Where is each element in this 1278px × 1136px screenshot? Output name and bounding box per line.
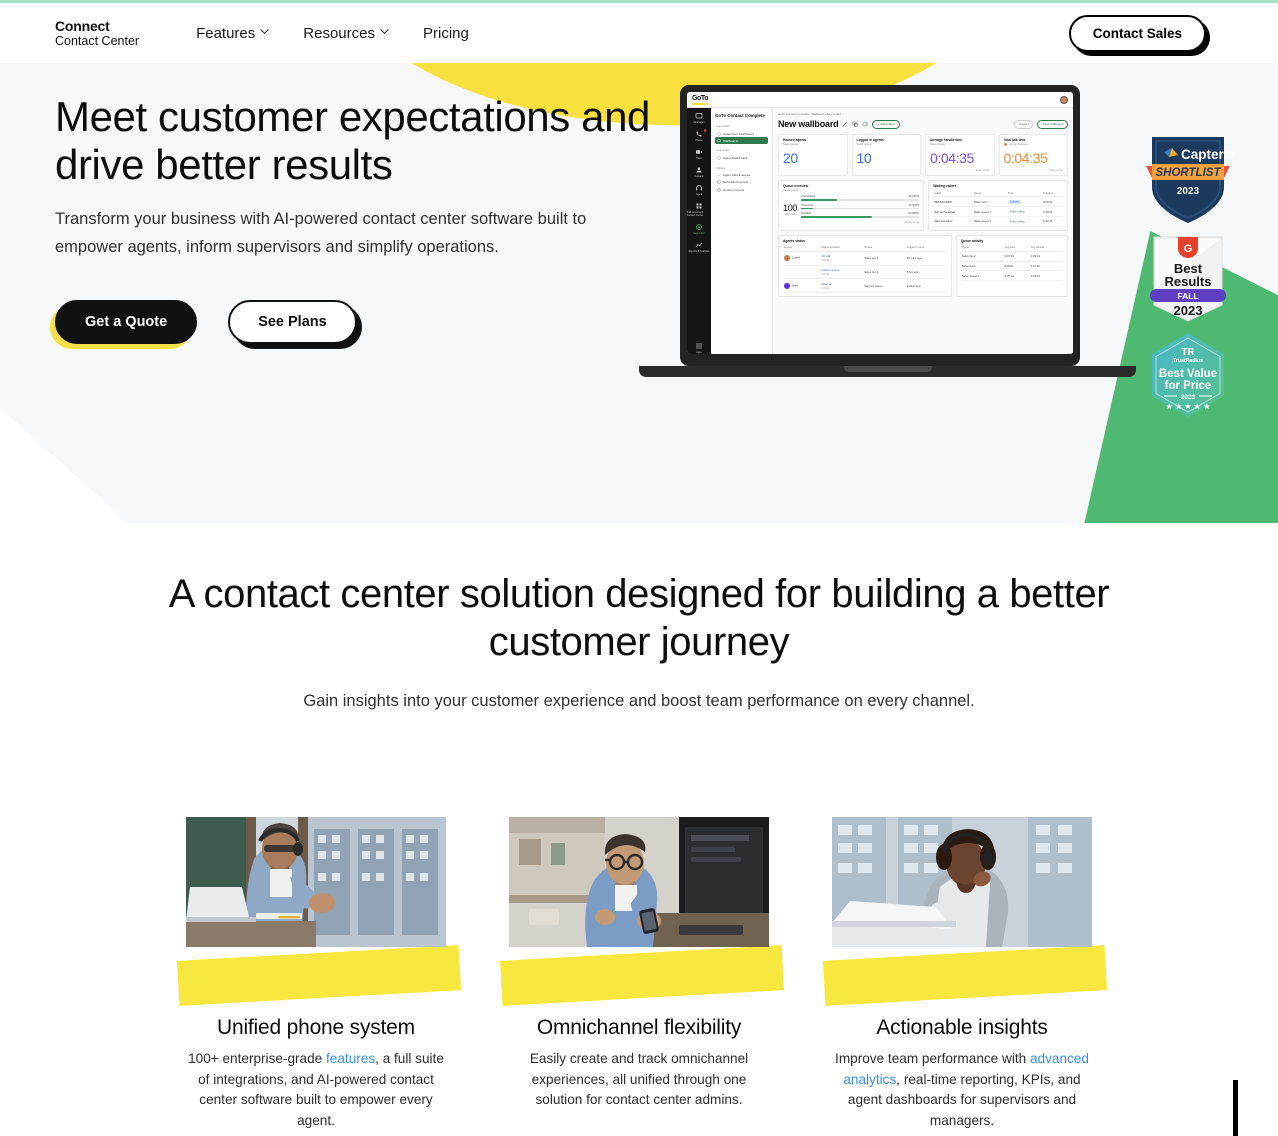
- kpi-value: 0:04:35: [1004, 150, 1064, 166]
- rail-item-meet[interactable]: Meet: [687, 148, 711, 160]
- card-title: Unified phone system: [186, 1016, 446, 1040]
- agent-name: Adex: [792, 283, 798, 287]
- status-badge: Callback: [1008, 200, 1022, 204]
- queue-bar-fill: [801, 216, 872, 218]
- cell-status: Wrap up0:00:16: [820, 279, 863, 293]
- cell-queue: Sales queue 1: [973, 216, 1007, 226]
- card-body-pre: Improve team performance with: [835, 1051, 1030, 1066]
- kpi-subtitle: Sales queue: [857, 143, 917, 146]
- queue-total: 100 Total calls: [783, 203, 797, 216]
- dashboard-icon: [717, 156, 721, 160]
- table-row: Marc Hamilton Sales queue 1 Active calli…: [933, 216, 1063, 226]
- feature-card-omnichannel-flexibility: Omnichannel flexibility Easily create an…: [509, 785, 769, 1132]
- notification-badge-icon: [704, 129, 707, 132]
- report-icon: [717, 188, 721, 192]
- kpi-title: Total talk time: [1004, 138, 1064, 142]
- contacts-icon: [695, 166, 703, 174]
- yellow-band-decoration: [500, 945, 784, 1006]
- cell-caller: 888-890-8008: [933, 197, 972, 207]
- nav-supervisor-dashboard-label: Supervisor Dashboard: [723, 132, 754, 136]
- grid-icon: [695, 202, 703, 210]
- apps-icon: [695, 342, 703, 350]
- kpi-footer: Today so far: [930, 169, 990, 172]
- avatar: [784, 283, 790, 289]
- waiting-callers-panel: Waiting callers Caller Queue Type Durati…: [928, 180, 1068, 230]
- queue-total-label: Total calls: [783, 213, 797, 216]
- page-title: New wallboard: [778, 119, 838, 129]
- kpi-footer: Today so far: [1004, 169, 1064, 172]
- queue-bar-fill: [801, 199, 836, 201]
- main-navigation: Features Resources Pricing: [196, 25, 469, 42]
- rail-item-phone-label: Phone: [696, 139, 703, 142]
- card-media: [186, 785, 446, 1000]
- cell-avg-handle: 0:18:01: [1030, 271, 1063, 281]
- chevron-down-icon: [260, 27, 269, 36]
- cell-status: On call0:00:43: [820, 251, 863, 265]
- get-a-quote-button[interactable]: Get a Quote: [55, 300, 197, 344]
- status-link[interactable]: Follow up chat: [821, 268, 839, 272]
- table-row: Samantha Edgar Sales queue 1 Active call…: [933, 207, 1063, 217]
- queue-activity-panel: Queue activity Queue Avg wait Avg handle: [956, 235, 1068, 297]
- nav-wallboards-label: Wallboards: [723, 139, 738, 143]
- kpi-subtitle: Sales queue: [783, 143, 843, 146]
- rail-item-apps-label: Apps: [696, 351, 701, 354]
- cell-avg-wait: 0:25:01: [1004, 271, 1030, 281]
- add-widget-button[interactable]: + Add widget: [872, 120, 899, 129]
- agent-name: Lowell: [792, 256, 800, 260]
- analytics-icon: [695, 241, 703, 249]
- panel-title: Waiting callers: [933, 184, 1063, 188]
- video-icon: [695, 148, 703, 156]
- svg-text:Capterra: Capterra: [1181, 147, 1234, 162]
- cell-queue: Sales tier 1: [863, 265, 905, 279]
- laptop-body: GoTo Messages: [680, 85, 1080, 366]
- queue-bar-track: [801, 199, 919, 201]
- cell-duration: 0:00:01: [1042, 197, 1063, 207]
- cell-avg-handle: 0:06:01: [1030, 251, 1063, 261]
- status-link[interactable]: Wrap up: [821, 282, 832, 286]
- queue-bar-value: 60 (60%): [908, 212, 919, 215]
- queue-overview-panel: Queue overview Sales queue 100 Total cal…: [778, 180, 924, 230]
- queue-overview-footer: Today so far: [801, 221, 919, 224]
- contact-center-dashboard: GoTo Messages: [687, 92, 1073, 354]
- hero-subheading: Transform your business with AI-powered …: [55, 205, 635, 262]
- panel-title: Queue activity: [961, 239, 1063, 243]
- duplicate-icon[interactable]: [852, 121, 858, 127]
- value-proposition-section: A contact center solution designed for b…: [0, 570, 1278, 711]
- table-row: 888-890-8008 Sales tier2 Callback 0:00:0…: [933, 197, 1063, 207]
- rail-item-agent-label: Agent: [696, 193, 702, 196]
- header-actions: Contact Sales: [1069, 15, 1206, 52]
- svg-text:2023: 2023: [1181, 394, 1196, 401]
- card-body-pre: 100+ enterprise-grade: [188, 1051, 326, 1066]
- kpi-title: Logged in agents: [857, 138, 917, 142]
- svg-text:Results: Results: [1165, 274, 1212, 289]
- cell-queue: Sales tier 2: [961, 251, 1004, 261]
- queue-bar-track: [801, 208, 919, 210]
- nav-scheduled-reports[interactable]: Scheduled reports: [715, 179, 768, 186]
- cell-avg-wait: 0:15:01: [1004, 251, 1030, 261]
- cell-time: 2 days ago: [906, 279, 947, 293]
- capterra-shortlist-badge: Capterra SHORTLIST 2023: [1140, 131, 1236, 227]
- svg-text:FALL: FALL: [1177, 291, 1198, 301]
- cell-status: Follow up chat0:00:01: [820, 265, 863, 279]
- kpi-card-logged-in-agents: Logged in agents Sales queue 10: [852, 134, 922, 176]
- dashboard-icon: [717, 132, 721, 136]
- table-row: Sales tier 2 0:15:01 0:06:01: [961, 251, 1063, 261]
- save-wallboard-button[interactable]: Save wallboard: [1037, 120, 1068, 129]
- goto-logo: GoTo: [692, 95, 708, 105]
- site-header: Connect Contact Center Features Resource…: [0, 3, 1278, 63]
- rail-item-supervisor-label: Supervisor: [693, 232, 704, 235]
- man-at-desk-with-phone-photo: [509, 817, 769, 947]
- nav-agent-effectiveness-label: Agent effectiveness: [723, 173, 750, 177]
- agents-status-panel: Agents status Agents Status/Location Que…: [778, 235, 952, 297]
- queue-activity-table: Queue Avg wait Avg handle Sales tier 2 0…: [961, 245, 1063, 281]
- cell-avg-wait: 0:06:11: [1004, 261, 1030, 271]
- table-row: Sales queue 1 0:25:01 0:18:01: [961, 271, 1063, 281]
- brand-logo-primary: Connect: [55, 18, 139, 34]
- nav-item-pricing[interactable]: Pricing: [423, 25, 469, 42]
- status-badge: Active calling: [1008, 220, 1027, 224]
- kpi-subtitle: Sales queue: [930, 143, 990, 146]
- section-subheading: Gain insights into your customer experie…: [0, 692, 1278, 711]
- table-row: Adex Wrap up0:00:16 Support queue 2 days…: [783, 279, 947, 293]
- cell-queue: Support queue: [863, 279, 905, 293]
- laptop-screen: GoTo Messages: [687, 92, 1073, 354]
- share-icon[interactable]: [862, 121, 868, 127]
- nav-wallboards[interactable]: Wallboards: [715, 137, 768, 144]
- nav-item-resources[interactable]: Resources: [303, 25, 389, 42]
- agents-status-table: Agents Status/Location Queue Logged in t…: [783, 245, 947, 293]
- rail-item-agent[interactable]: Agent: [687, 184, 711, 196]
- rail-item-contacts[interactable]: Contacts: [687, 166, 711, 178]
- rail-item-phone[interactable]: Phone: [687, 130, 711, 142]
- svg-text:2023: 2023: [1174, 303, 1203, 318]
- award-badges: Capterra SHORTLIST 2023 G Best Results F…: [1140, 131, 1236, 425]
- edit-icon[interactable]: [842, 121, 848, 127]
- svg-text:G: G: [1184, 243, 1193, 255]
- panel-title: Agents status: [783, 239, 947, 243]
- chat-icon: [695, 112, 703, 120]
- svg-text:Best Value: Best Value: [1159, 368, 1217, 380]
- rail-item-reports-analytics[interactable]: Reports & Analytics: [687, 241, 711, 253]
- avatar[interactable]: [1060, 96, 1068, 104]
- cell-type: Callback: [1007, 197, 1042, 207]
- status-duration: 0:00:16: [821, 287, 829, 290]
- svg-text:2023: 2023: [1177, 186, 1200, 197]
- features-link[interactable]: features: [326, 1051, 375, 1066]
- cell-duration: 0:10:01: [1042, 207, 1063, 217]
- kpi-value: 10: [857, 150, 917, 166]
- queue-bar-label: Timed out: [801, 204, 813, 207]
- nav-agent-dashboard[interactable]: Agent Dashboard: [715, 154, 768, 161]
- queue-bar-row: Abandoned 30 (30%): [801, 195, 919, 198]
- status-link[interactable]: On call: [821, 254, 830, 258]
- yellow-band-decoration: [823, 945, 1107, 1006]
- queue-bar-label: Handled: [801, 212, 811, 215]
- queue-bar-label: Abandoned: [801, 195, 815, 198]
- rail-item-meet-label: Meet: [696, 157, 701, 160]
- avatar: [1004, 143, 1007, 146]
- card-body: Improve team performance with advanced a…: [832, 1049, 1092, 1132]
- svg-text:TR: TR: [1181, 347, 1195, 358]
- kpi-card-paused-agents: Paused agents Sales queue 20: [778, 134, 848, 176]
- nav-agent-effectiveness[interactable]: Agent effectiveness: [715, 172, 768, 179]
- cell-type: Active calling: [1007, 207, 1042, 217]
- card-body: 100+ enterprise-grade features, a full s…: [186, 1049, 446, 1132]
- rail-item-call-center[interactable]: Call center and Contact Center: [687, 202, 711, 217]
- rail-item-messages[interactable]: Messages: [687, 112, 711, 124]
- landing-page: Connect Contact Center Features Resource…: [0, 0, 1278, 1136]
- hero-heading: Meet customer expectations and drive bet…: [55, 93, 675, 189]
- panel-subtitle: Sales queue: [783, 189, 919, 192]
- cell-queue: Sales queue 1: [973, 207, 1007, 217]
- feature-cards: Unified phone system 100+ enterprise-gra…: [0, 785, 1278, 1132]
- section-heading: A contact center solution designed for b…: [139, 570, 1139, 666]
- kpi-subtitle-row: Lincoln Bowman: [1004, 143, 1064, 146]
- status-duration: 0:00:01: [821, 273, 829, 276]
- queue-bar-row: Handled 60 (60%): [801, 212, 919, 215]
- cell-avg-handle: 0:11:01: [1030, 261, 1063, 271]
- dashboard-main-panel: GoTo Contact Complete › Wallboard › New …: [773, 108, 1073, 354]
- mid-panel-row: Queue overview Sales queue 100 Total cal…: [778, 180, 1068, 230]
- calendar-icon: [717, 180, 721, 184]
- dashboard-body: Messages Phone Meet: [687, 108, 1073, 354]
- cell-queue: Sales tier2: [973, 197, 1007, 207]
- see-plans-button[interactable]: See Plans: [228, 300, 357, 344]
- status-duration: 0:00:43: [821, 259, 829, 262]
- table-row: Lowell On call0:00:43 Sales tier 2 30 mi…: [783, 251, 947, 265]
- trustradius-best-value-badge: TR TrustRadius Best Value for Price 2023…: [1140, 331, 1236, 419]
- nav-supervisor-dashboard[interactable]: Supervisor Dashboard: [715, 130, 768, 137]
- queue-bar-row: Timed out 10 (10%): [801, 204, 919, 207]
- cell-caller: Samantha Edgar: [933, 207, 972, 217]
- svg-text:for Price: for Price: [1165, 380, 1212, 392]
- nav-item-pricing-label: Pricing: [423, 25, 469, 42]
- nav-custom-reports-label: Custom reports: [723, 188, 744, 192]
- dashboard-icon-rail: Messages Phone Meet: [687, 108, 711, 354]
- dashboard-side-nav: GoTo Contact Complete Supervisor Supervi…: [711, 108, 773, 354]
- scrollbar-indicator[interactable]: [1233, 1080, 1238, 1136]
- card-media: [832, 785, 1092, 1000]
- kpi-title: Paused agents: [783, 138, 843, 142]
- wallboard-icon: [717, 139, 721, 143]
- cell-agent: Lowell: [783, 251, 820, 265]
- rail-item-reports-label: Reports & Analytics: [689, 250, 710, 253]
- table-row: Sales tier 1 0:06:11 0:11:01: [961, 261, 1063, 271]
- nav-group-utilities-label: Utilities: [716, 166, 768, 170]
- cell-type: Active calling: [1007, 216, 1042, 226]
- kpi-row: Paused agents Sales queue 20 Logged in a…: [778, 134, 1068, 176]
- avatar: [784, 255, 790, 261]
- hero-cta-group: Get a Quote See Plans: [55, 300, 357, 344]
- brand-logo[interactable]: Connect Contact Center: [55, 18, 139, 48]
- man-with-headset-at-laptop-photo: [186, 817, 446, 947]
- cell-duration: 0:42:26: [1042, 216, 1063, 226]
- dashboard-app-title: GoTo Contact Complete: [715, 113, 768, 118]
- contact-sales-button[interactable]: Contact Sales: [1069, 15, 1206, 52]
- bottom-panel-row: Agents status Agents Status/Location Que…: [778, 235, 1068, 297]
- card-body-pre: Easily create and track omnichannel expe…: [530, 1051, 748, 1107]
- svg-text:SHORTLIST: SHORTLIST: [1156, 167, 1222, 179]
- phone-icon: [695, 130, 703, 138]
- nav-item-features[interactable]: Features: [196, 25, 269, 42]
- waiting-callers-table: Caller Queue Type Duration 888-890-8008 …: [933, 190, 1063, 226]
- cell-time: 5 hrs ago: [906, 265, 947, 279]
- cell-agent: Adex: [783, 279, 820, 293]
- g2-best-results-badge: G Best Results FALL 2023: [1140, 233, 1236, 325]
- cell-agent: [783, 265, 820, 279]
- feature-card-actionable-insights: Actionable insights Improve team perform…: [832, 785, 1092, 1132]
- kpi-value: 0:04:35: [930, 150, 990, 166]
- laptop-notch: [844, 366, 932, 372]
- feature-card-unified-phone-system: Unified phone system 100+ enterprise-gra…: [186, 785, 446, 1132]
- rail-item-call-center-label: Call center and Contact Center: [687, 211, 711, 217]
- wallboard-title-row: New wallboard + Add widget Cancel Save w…: [778, 119, 1068, 129]
- status-badge: Active calling: [1008, 210, 1027, 214]
- yellow-band-decoration: [177, 945, 461, 1006]
- queue-bar-value: 10 (10%): [908, 204, 919, 207]
- queue-overview-content: 100 Total calls Abandoned 30 (30%): [783, 195, 919, 224]
- nav-scheduled-reports-label: Scheduled reports: [723, 180, 748, 184]
- kpi-title: Average handle time: [930, 138, 990, 142]
- nav-custom-reports[interactable]: Custom reports: [715, 186, 768, 193]
- chart-icon: [717, 173, 721, 177]
- queue-bar-fill: [801, 208, 813, 210]
- rail-item-contacts-label: Contacts: [694, 175, 703, 178]
- card-media: [509, 785, 769, 1000]
- rail-item-messages-label: Messages: [694, 121, 705, 124]
- rail-item-apps[interactable]: Apps: [687, 342, 711, 354]
- cell-queue: Sales queue 1: [961, 271, 1004, 281]
- kpi-subtitle: Lincoln Bowman: [1008, 143, 1028, 146]
- card-body: Easily create and track omnichannel expe…: [509, 1049, 769, 1111]
- brand-logo-secondary: Contact Center: [55, 34, 139, 48]
- queue-total-value: 100: [783, 203, 797, 213]
- cell-time: 30 mins ago: [906, 251, 947, 265]
- rail-item-supervisor[interactable]: Supervisor: [687, 223, 711, 235]
- kpi-card-average-handle-time: Average handle time Sales queue 0:04:35 …: [925, 134, 995, 176]
- nav-group-call-center-label: Call center: [716, 148, 768, 152]
- cell-queue: Sales tier 1: [961, 261, 1004, 271]
- queue-bars: Abandoned 30 (30%) Timed out 10 (10%): [801, 195, 919, 224]
- svg-text:TrustRadius: TrustRadius: [1173, 358, 1203, 364]
- breadcrumb: GoTo Contact Complete › Wallboard › New …: [778, 112, 1068, 116]
- supervisor-icon: [695, 223, 703, 231]
- queue-bar-value: 30 (30%): [908, 195, 919, 198]
- nav-item-resources-label: Resources: [303, 25, 375, 42]
- nav-group-supervisor-label: Supervisor: [716, 124, 768, 128]
- laptop-product-mockup: GoTo Messages: [639, 85, 1089, 385]
- cancel-button[interactable]: Cancel: [1014, 120, 1033, 129]
- panel-title: Queue overview: [783, 184, 919, 188]
- nav-agent-dashboard-label: Agent Dashboard: [723, 156, 747, 160]
- nav-item-features-label: Features: [196, 25, 255, 42]
- cell-queue: Sales tier 2: [863, 251, 905, 265]
- kpi-value: 20: [783, 150, 843, 166]
- svg-text:★ ★ ★ ★ ★: ★ ★ ★ ★ ★: [1166, 402, 1211, 411]
- cell-caller: Marc Hamilton: [933, 216, 972, 226]
- woman-with-headset-at-laptop-photo: [832, 817, 1092, 947]
- queue-bar-track: [801, 216, 919, 218]
- dashboard-topbar: GoTo: [687, 92, 1073, 108]
- card-title: Omnichannel flexibility: [509, 1016, 769, 1040]
- kpi-card-total-talk-time: Total talk time Lincoln Bowman 0:04:35 T…: [999, 134, 1069, 176]
- table-row: Follow up chat0:00:01 Sales tier 1 5 hrs…: [783, 265, 947, 279]
- headset-icon: [695, 184, 703, 192]
- card-title: Actionable insights: [832, 1016, 1092, 1040]
- chevron-down-icon: [380, 27, 389, 36]
